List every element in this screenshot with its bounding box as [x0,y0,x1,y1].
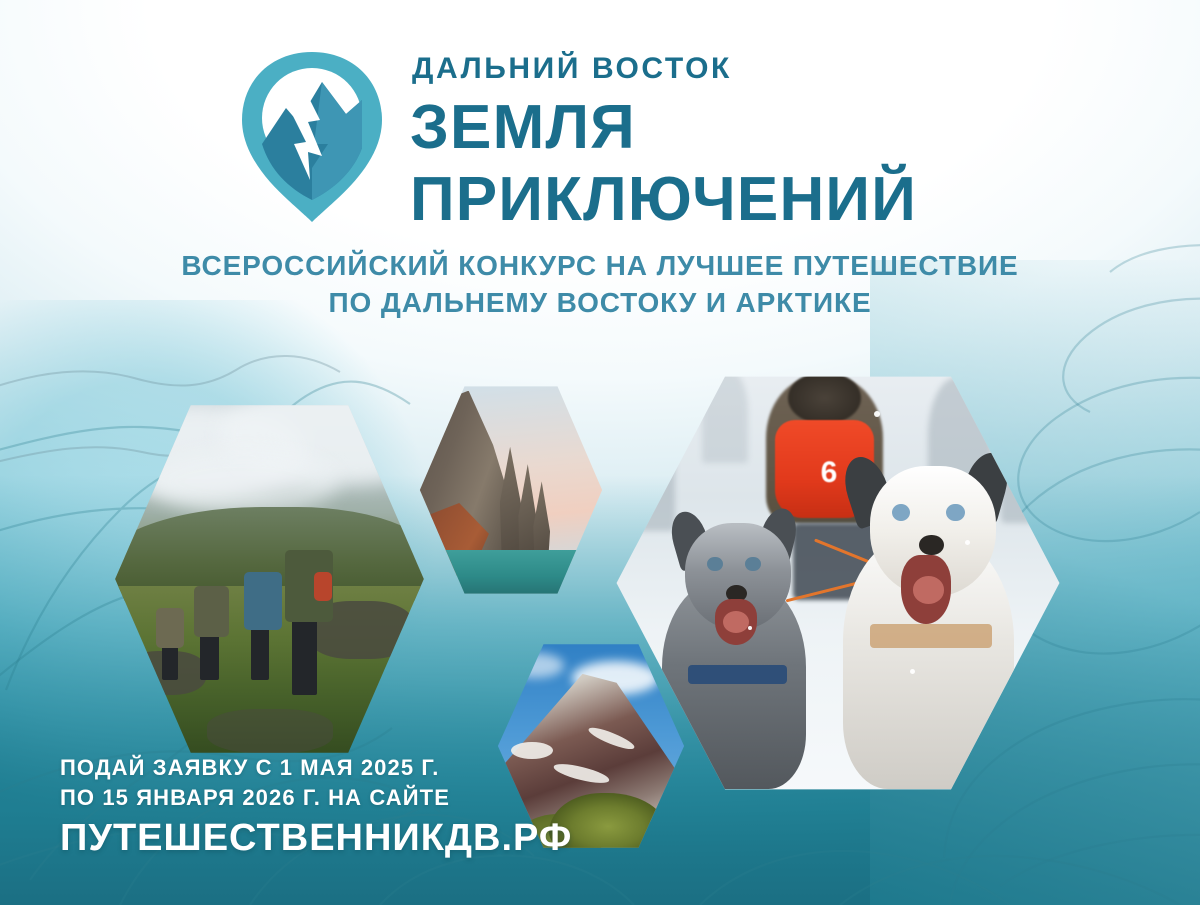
subtitle-line-2: ПО ДАЛЬНЕМУ ВОСТОКУ И АРКТИКЕ [0,285,1200,322]
poster-root: 6 [0,0,1200,905]
poster-subtitle: ВСЕРОССИЙСКИЙ КОНКУРС НА ЛУЧШЕЕ ПУТЕШЕСТ… [0,248,1200,322]
photo-husky-sled-team: 6 [612,368,1064,798]
photo-hikers-on-tundra-trail [112,398,427,760]
call-to-action-block: ПОДАЙ ЗАЯВКУ С 1 МАЯ 2025 Г. ПО 15 ЯНВАР… [60,753,572,859]
brand-lockup: ДАЛЬНИЙ ВОСТОК ЗЕМЛЯ ПРИКЛЮЧЕНИЙ [236,48,917,229]
brand-title-line-1: ЗЕМЛЯ [410,98,917,158]
brand-text-block: ДАЛЬНИЙ ВОСТОК ЗЕМЛЯ ПРИКЛЮЧЕНИЙ [410,48,917,229]
photo-coastal-rock-cliffs [418,382,604,598]
husky-white [815,445,1041,789]
subtitle-line-1: ВСЕРОССИЙСКИЙ КОНКУРС НА ЛУЧШЕЕ ПУТЕШЕСТ… [0,248,1200,285]
cta-line-1: ПОДАЙ ЗАЯВКУ С 1 МАЯ 2025 Г. [60,753,572,783]
poster-header: ДАЛЬНИЙ ВОСТОК ЗЕМЛЯ ПРИКЛЮЧЕНИЙ ВСЕРОСС… [0,0,1200,345]
brand-kicker: ДАЛЬНИЙ ВОСТОК [412,54,917,84]
brand-title-line-2: ПРИКЛЮЧЕНИЙ [410,170,917,230]
cta-line-2: ПО 15 ЯНВАРЯ 2026 Г. НА САЙТЕ [60,783,572,813]
cta-website[interactable]: ПУТЕШЕСТВЕННИКДВ.РФ [60,819,572,859]
mountain-pin-logo-icon [236,48,388,224]
